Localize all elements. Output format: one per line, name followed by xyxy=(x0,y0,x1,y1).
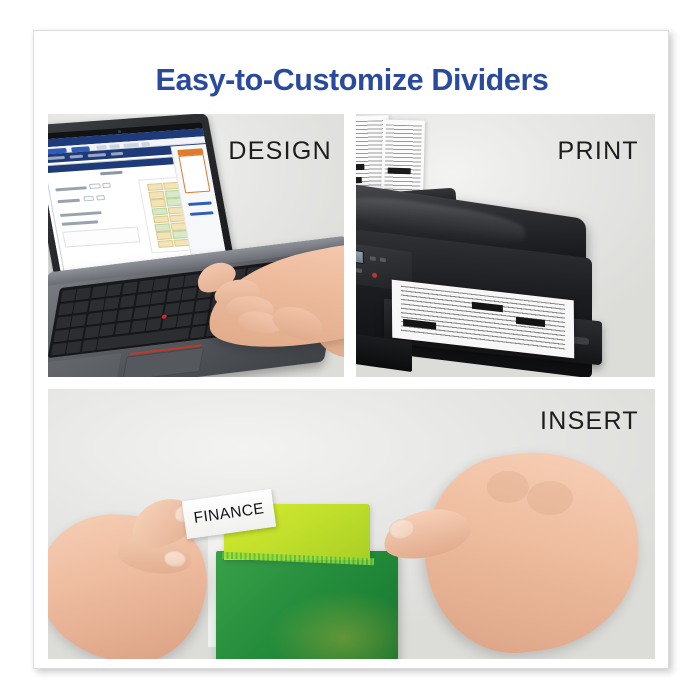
panel-label-print: PRINT xyxy=(558,137,640,166)
key xyxy=(102,310,118,323)
key xyxy=(117,308,133,321)
key xyxy=(66,340,82,353)
nav-item xyxy=(48,156,65,160)
key xyxy=(151,291,167,304)
feeder-sheet xyxy=(381,119,425,198)
key xyxy=(82,338,98,351)
key xyxy=(120,295,136,308)
ribbon-tool xyxy=(109,144,120,149)
control-button[interactable] xyxy=(356,268,362,273)
right-hand xyxy=(379,427,629,659)
key xyxy=(137,279,153,292)
panel-print: PRINT xyxy=(356,114,655,377)
divider-tab-mark xyxy=(356,177,362,184)
template-cell[interactable] xyxy=(152,207,168,216)
key xyxy=(75,287,91,300)
webcam-icon xyxy=(117,130,121,133)
rail-preview-card xyxy=(179,154,211,193)
rail-chip[interactable] xyxy=(188,201,211,206)
key xyxy=(106,283,122,296)
sheet-text-lines xyxy=(384,124,421,194)
form-panel xyxy=(62,227,140,248)
form-label xyxy=(55,186,87,191)
form-label xyxy=(60,211,102,217)
key xyxy=(122,281,138,294)
form-label xyxy=(62,220,99,225)
dialog-form-column xyxy=(52,177,145,261)
key xyxy=(146,317,162,330)
form-input[interactable] xyxy=(96,195,105,200)
key xyxy=(68,327,84,340)
hand-on-keyboard xyxy=(176,234,344,372)
key xyxy=(73,300,89,313)
control-button[interactable] xyxy=(380,258,386,263)
nav-item xyxy=(88,153,107,157)
template-cell[interactable] xyxy=(149,191,165,200)
key xyxy=(153,277,169,290)
panel-label-design: DESIGN xyxy=(228,137,332,166)
key xyxy=(135,293,151,306)
key xyxy=(89,298,105,311)
knuckle xyxy=(487,471,529,503)
product-image-canvas: Easy-to-Customize Dividers xyxy=(0,0,700,700)
rail-chip[interactable] xyxy=(190,211,213,216)
ribbon-tool xyxy=(141,142,150,147)
template-cell[interactable] xyxy=(156,232,172,241)
key xyxy=(86,312,102,325)
nav-item xyxy=(111,152,123,156)
lcd-display-icon xyxy=(356,247,364,264)
divider-tab-mark xyxy=(387,168,410,175)
form-input[interactable] xyxy=(103,183,112,188)
divider-tab-mark xyxy=(356,163,365,170)
key xyxy=(53,329,69,342)
key xyxy=(58,302,74,315)
key xyxy=(133,306,149,319)
template-cell[interactable] xyxy=(155,223,171,232)
key xyxy=(130,319,146,332)
label-strip-text: FINANCE xyxy=(193,500,266,528)
key xyxy=(115,321,131,334)
key xyxy=(51,342,67,355)
form-input[interactable] xyxy=(89,183,101,189)
nav-item xyxy=(69,155,83,159)
key xyxy=(71,314,87,327)
key xyxy=(84,325,100,338)
panel-design: DESIGN xyxy=(48,114,344,377)
divider-body xyxy=(216,551,398,659)
template-cell[interactable] xyxy=(147,183,163,192)
power-button-icon[interactable] xyxy=(372,272,377,278)
page-title: Easy-to-Customize Dividers xyxy=(34,63,670,98)
key xyxy=(99,323,115,336)
ribbon-tool xyxy=(96,145,107,150)
form-input[interactable] xyxy=(83,196,94,202)
product-card: Easy-to-Customize Dividers xyxy=(33,30,669,669)
dialog-title xyxy=(100,171,123,175)
control-button[interactable] xyxy=(370,256,376,261)
ribbon-tool xyxy=(123,142,139,147)
key xyxy=(55,316,71,329)
key xyxy=(91,285,107,298)
key xyxy=(60,289,76,302)
template-cell[interactable] xyxy=(150,199,166,208)
panel-insert: FINANCE INSERT xyxy=(48,389,655,659)
key xyxy=(104,296,120,309)
template-cell[interactable] xyxy=(158,240,174,249)
form-label xyxy=(57,199,80,203)
template-cell[interactable] xyxy=(153,215,169,224)
panel-label-insert: INSERT xyxy=(540,407,639,436)
knuckle xyxy=(527,481,573,515)
